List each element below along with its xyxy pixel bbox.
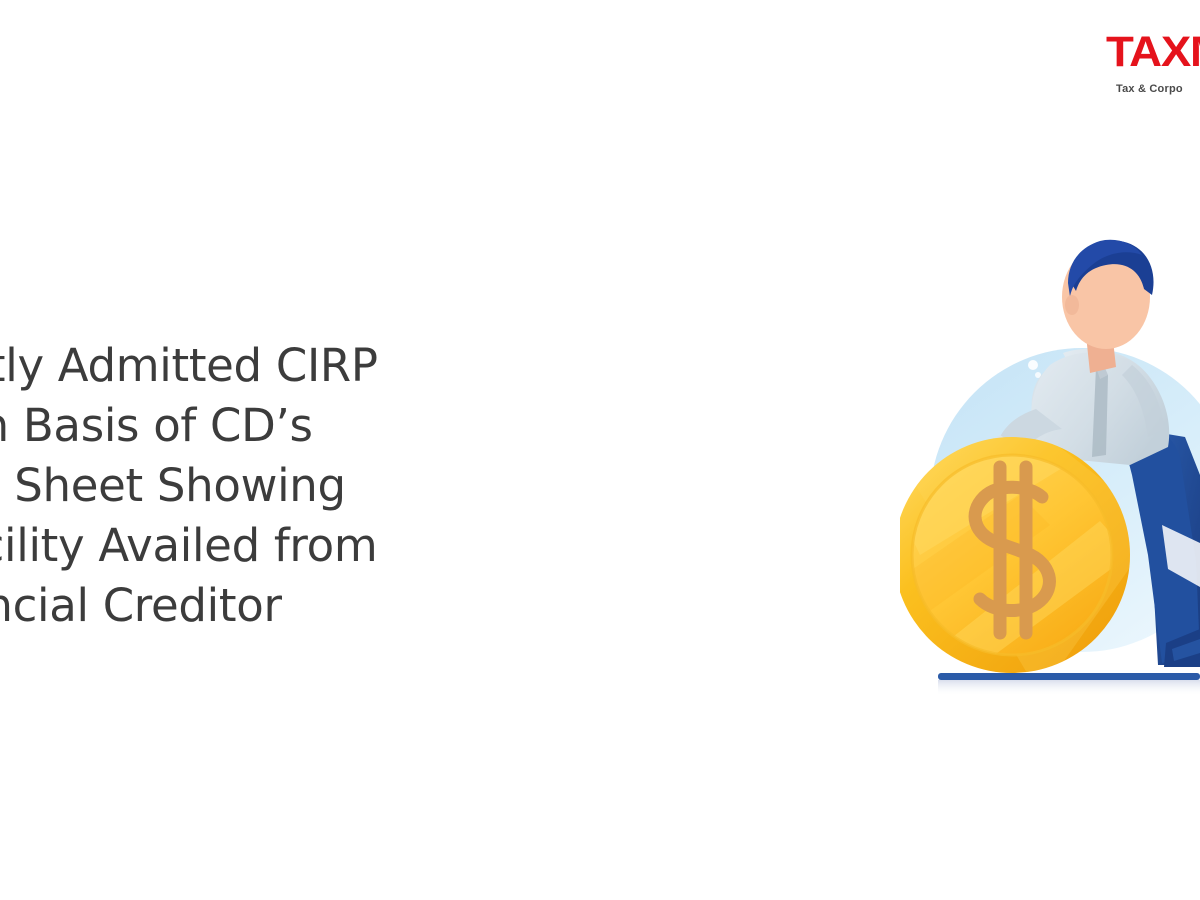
- ground-line: [938, 673, 1200, 695]
- headline-line: on Basis of CD’s: [0, 396, 588, 456]
- article-banner: TAXM Tax & Corpo Rightly Admitted CIRP o…: [0, 0, 1200, 900]
- headline-line: nce Sheet Showing: [0, 456, 588, 516]
- page-title: Rightly Admitted CIRP on Basis of CD’s n…: [0, 336, 588, 636]
- taxmann-logo[interactable]: TAXM Tax & Corpo: [1106, 30, 1200, 110]
- hero-illustration: [900, 225, 1200, 695]
- headline-line: ncial Creditor: [0, 576, 588, 636]
- headline-line: n Facility Availed from: [0, 516, 588, 576]
- logo-wordmark: TAXM: [1106, 30, 1200, 74]
- headline-line: Rightly Admitted CIRP: [0, 336, 588, 396]
- logo-tagline: Tax & Corpo: [1116, 83, 1200, 95]
